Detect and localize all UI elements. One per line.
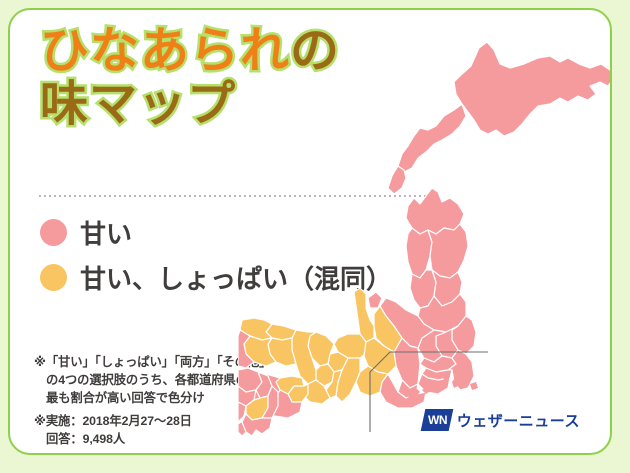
legend-dot-amber-icon: [40, 264, 67, 291]
japan-map: [238, 20, 612, 440]
region-aomori: [406, 188, 464, 234]
content-card: ひなあられの 味マップ 甘い 甘い、しょっぱい（混同） ※「甘い」「しょっぱい」…: [8, 8, 612, 455]
legend-dot-pink-icon: [40, 219, 67, 246]
infographic-root: ひなあられの 味マップ 甘い 甘い、しょっぱい（混同） ※「甘い」「しょっぱい」…: [0, 0, 630, 473]
japan-map-svg: [238, 20, 612, 440]
region-hokkaido: [388, 42, 612, 194]
legend-label-sweet: 甘い: [80, 214, 132, 251]
